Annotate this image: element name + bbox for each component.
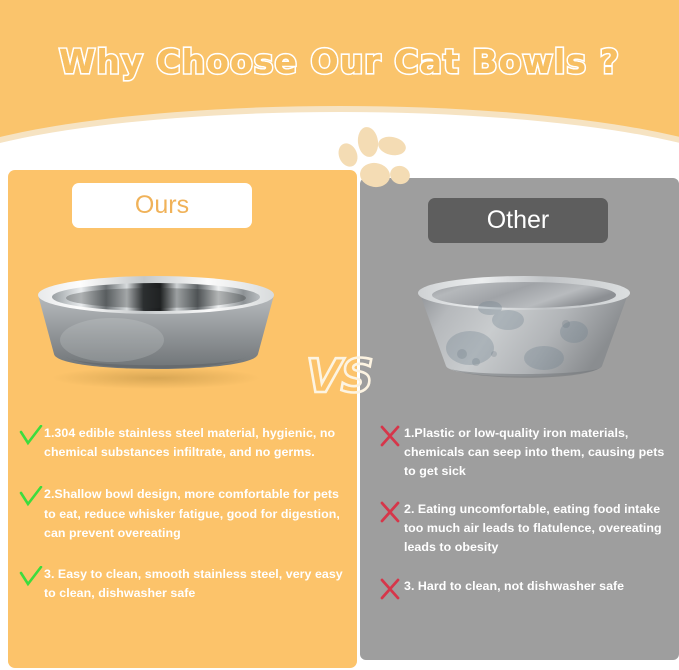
list-item-text: 3. Easy to clean, smooth stainless steel… xyxy=(44,565,348,603)
list-item: 3. Hard to clean, not dishwasher safe xyxy=(378,577,674,600)
red-x-icon xyxy=(378,425,404,447)
stainless-steel-bowl-shiny-icon xyxy=(22,262,290,390)
other-feature-list: 1.Plastic or low-quality iron materials,… xyxy=(378,424,674,616)
list-item-text: 2. Eating uncomfortable, eating food int… xyxy=(404,500,674,558)
comparison-infographic: Why Choose Our Cat Bowls ? Why Choose Ou… xyxy=(0,0,679,670)
list-item: 2. Eating uncomfortable, eating food int… xyxy=(378,500,674,558)
green-check-icon xyxy=(18,486,44,508)
paw-print-icon xyxy=(334,120,428,190)
red-x-icon xyxy=(378,578,404,600)
ours-label-chip: Ours xyxy=(72,183,252,228)
green-check-icon xyxy=(18,425,44,447)
list-item: 1.Plastic or low-quality iron materials,… xyxy=(378,424,674,482)
ours-feature-list: 1.304 edible stainless steel material, h… xyxy=(18,424,348,620)
list-item-text: 2.Shallow bowl design, more comfortable … xyxy=(44,485,348,543)
list-item: 3. Easy to clean, smooth stainless steel… xyxy=(18,565,348,603)
list-item-text: 3. Hard to clean, not dishwasher safe xyxy=(404,577,624,596)
list-item: 1.304 edible stainless steel material, h… xyxy=(18,424,348,462)
red-x-icon xyxy=(378,501,404,523)
versus-label: VS xyxy=(306,349,373,403)
list-item-text: 1.304 edible stainless steel material, h… xyxy=(44,424,348,462)
stainless-steel-bowl-dull-icon xyxy=(404,262,644,384)
page-title: Why Choose Our Cat Bowls ? xyxy=(0,42,679,81)
list-item-text: 1.Plastic or low-quality iron materials,… xyxy=(404,424,674,482)
other-label-chip: Other xyxy=(428,198,608,243)
green-check-icon xyxy=(18,566,44,588)
list-item: 2.Shallow bowl design, more comfortable … xyxy=(18,485,348,543)
